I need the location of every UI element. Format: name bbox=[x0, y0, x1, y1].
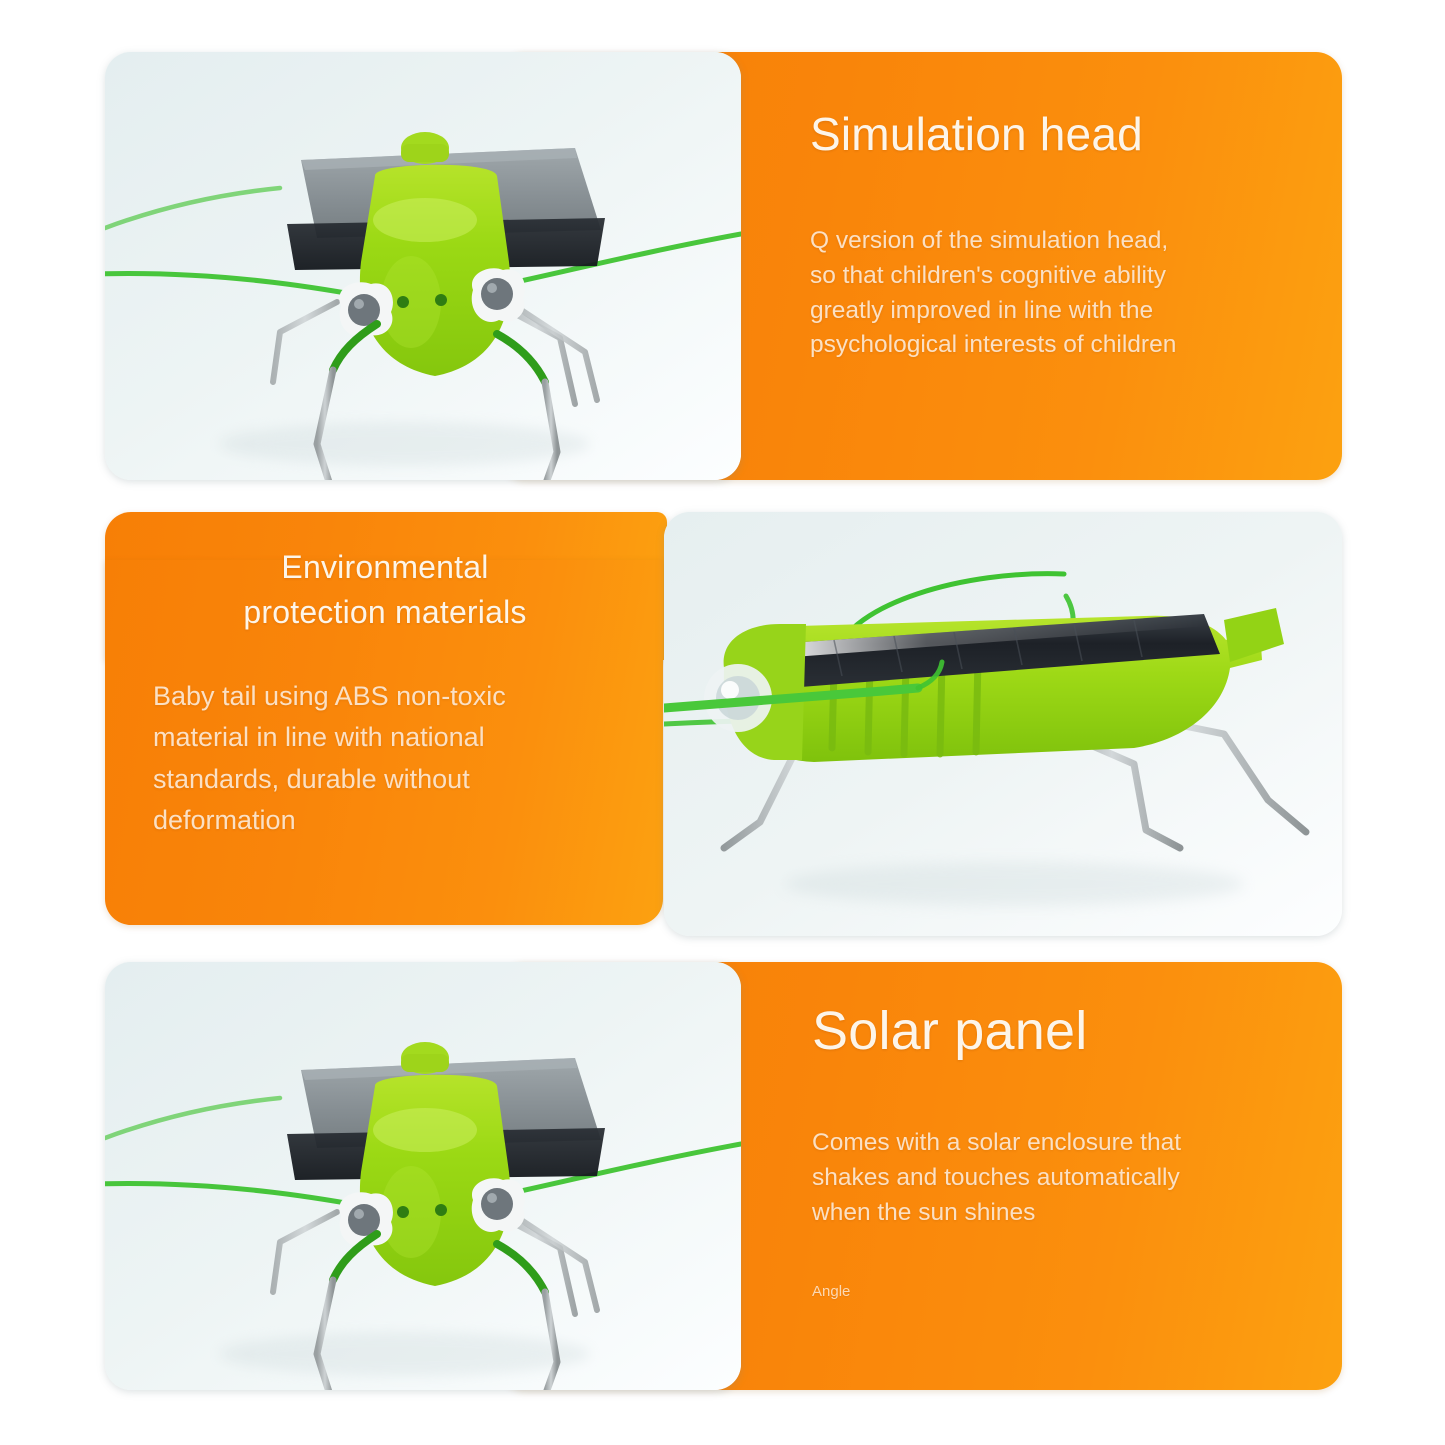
section-body: Baby tail using ABS non-toxic material i… bbox=[153, 676, 653, 841]
section-simulation-head: Simulation head Q version of the simulat… bbox=[0, 0, 1445, 500]
infographic-page: Simulation head Q version of the simulat… bbox=[0, 0, 1445, 1445]
product-photo-environmental bbox=[664, 512, 1342, 936]
section-footnote: Angle bbox=[812, 1283, 1112, 1300]
section-body: Q version of the simulation head, so tha… bbox=[810, 224, 1310, 363]
product-photo-simulation-head bbox=[105, 52, 741, 480]
section-title: Solar panel bbox=[812, 1000, 1312, 1062]
product-photo-solar bbox=[105, 962, 741, 1390]
section-body: Comes with a solar enclosure that shakes… bbox=[812, 1126, 1282, 1230]
section-title: Simulation head bbox=[810, 108, 1310, 161]
section-title: Environmental protection materials bbox=[150, 545, 620, 636]
